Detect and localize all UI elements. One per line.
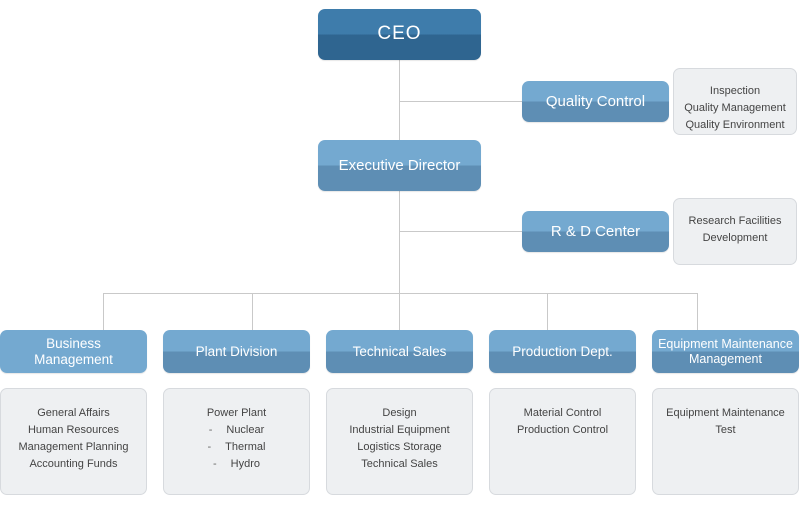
panel-item: Technical Sales [361, 456, 437, 473]
sub-item-label: Nuclear [226, 422, 264, 439]
node-executive-director[interactable]: Executive Director [318, 140, 481, 191]
panel-rd-center: Research Facilities Development [673, 198, 797, 265]
panel-equipment-maintenance-management: Equipment Maintenance Test [652, 388, 799, 495]
panel-sub-item: - Hydro [213, 456, 260, 473]
sub-item-bullet: - [213, 456, 217, 473]
panel-item: General Affairs [37, 405, 110, 422]
panel-item: Inspection [710, 83, 760, 100]
sub-item-bullet: - [207, 439, 211, 456]
panel-item: Human Resources [28, 422, 119, 439]
connector-drop-3 [399, 293, 400, 331]
connector-to-quality-control [399, 101, 523, 102]
panel-quality-control: Inspection Quality Management Quality En… [673, 68, 797, 135]
panel-plant-division: Power Plant - Nuclear - Thermal - Hydro [163, 388, 310, 495]
node-rd-center[interactable]: R & D Center [522, 211, 669, 252]
connector-drop-5 [697, 293, 698, 331]
connector-drop-1 [103, 293, 104, 331]
node-technical-sales[interactable]: Technical Sales [326, 330, 473, 373]
connector-drop-2 [252, 293, 253, 331]
panel-item: Production Control [517, 422, 608, 439]
panel-item: Logistics Storage [357, 439, 441, 456]
panel-item: Test [715, 422, 735, 439]
sub-item-label: Hydro [231, 456, 260, 473]
panel-sub-item: - Nuclear [209, 422, 265, 439]
connector-department-bus [103, 293, 698, 294]
connector-drop-4 [547, 293, 548, 331]
panel-item: Quality Environment [685, 117, 784, 134]
node-plant-division[interactable]: Plant Division [163, 330, 310, 373]
panel-item: Material Control [524, 405, 602, 422]
connector-to-rd-center [399, 231, 523, 232]
org-chart: CEO Executive Director Quality Control I… [0, 0, 800, 520]
sub-item-label: Thermal [225, 439, 265, 456]
panel-business-management: General Affairs Human Resources Manageme… [0, 388, 147, 495]
panel-item: Power Plant [207, 405, 266, 422]
panel-sub-item: - Thermal [207, 439, 265, 456]
node-business-management[interactable]: Business Management [0, 330, 147, 373]
connector-executive-to-bus [399, 191, 400, 294]
panel-item: Research Facilities [689, 213, 782, 230]
panel-technical-sales: Design Industrial Equipment Logistics St… [326, 388, 473, 495]
node-equipment-maintenance-management[interactable]: Equipment Maintenance Management [652, 330, 799, 373]
panel-item: Management Planning [18, 439, 128, 456]
panel-item: Development [703, 230, 768, 247]
panel-item: Accounting Funds [29, 456, 117, 473]
panel-production-dept: Material Control Production Control [489, 388, 636, 495]
connector-ceo-to-executive [399, 60, 400, 140]
panel-item: Industrial Equipment [349, 422, 449, 439]
panel-item: Design [382, 405, 416, 422]
panel-item: Equipment Maintenance [666, 405, 785, 422]
node-ceo[interactable]: CEO [318, 9, 481, 60]
sub-item-bullet: - [209, 422, 213, 439]
node-production-dept[interactable]: Production Dept. [489, 330, 636, 373]
panel-item: Quality Management [684, 100, 786, 117]
node-quality-control[interactable]: Quality Control [522, 81, 669, 122]
